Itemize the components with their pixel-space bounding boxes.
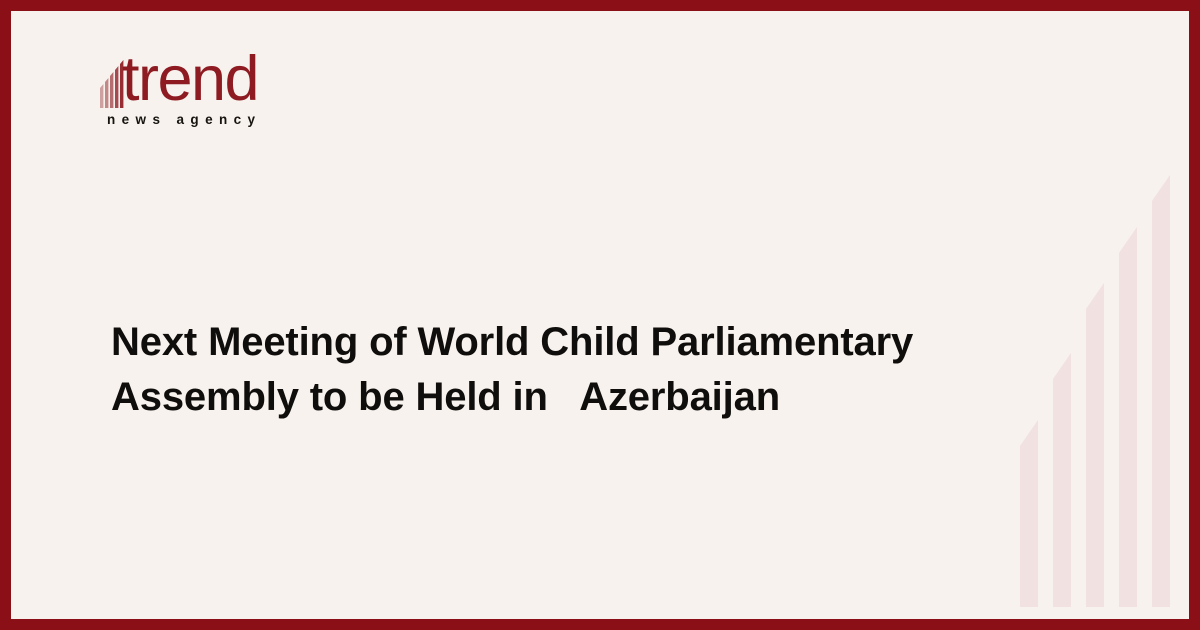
logo-tagline: news agency xyxy=(107,111,261,129)
logo-wordmark: trend xyxy=(122,48,258,111)
trend-news-agency-logo[interactable]: trend news agency xyxy=(100,54,280,140)
social-share-card: trend news agency Next Meeting of World … xyxy=(0,0,1200,630)
page-title: Next Meeting of World Child Parliamentar… xyxy=(111,315,1086,425)
